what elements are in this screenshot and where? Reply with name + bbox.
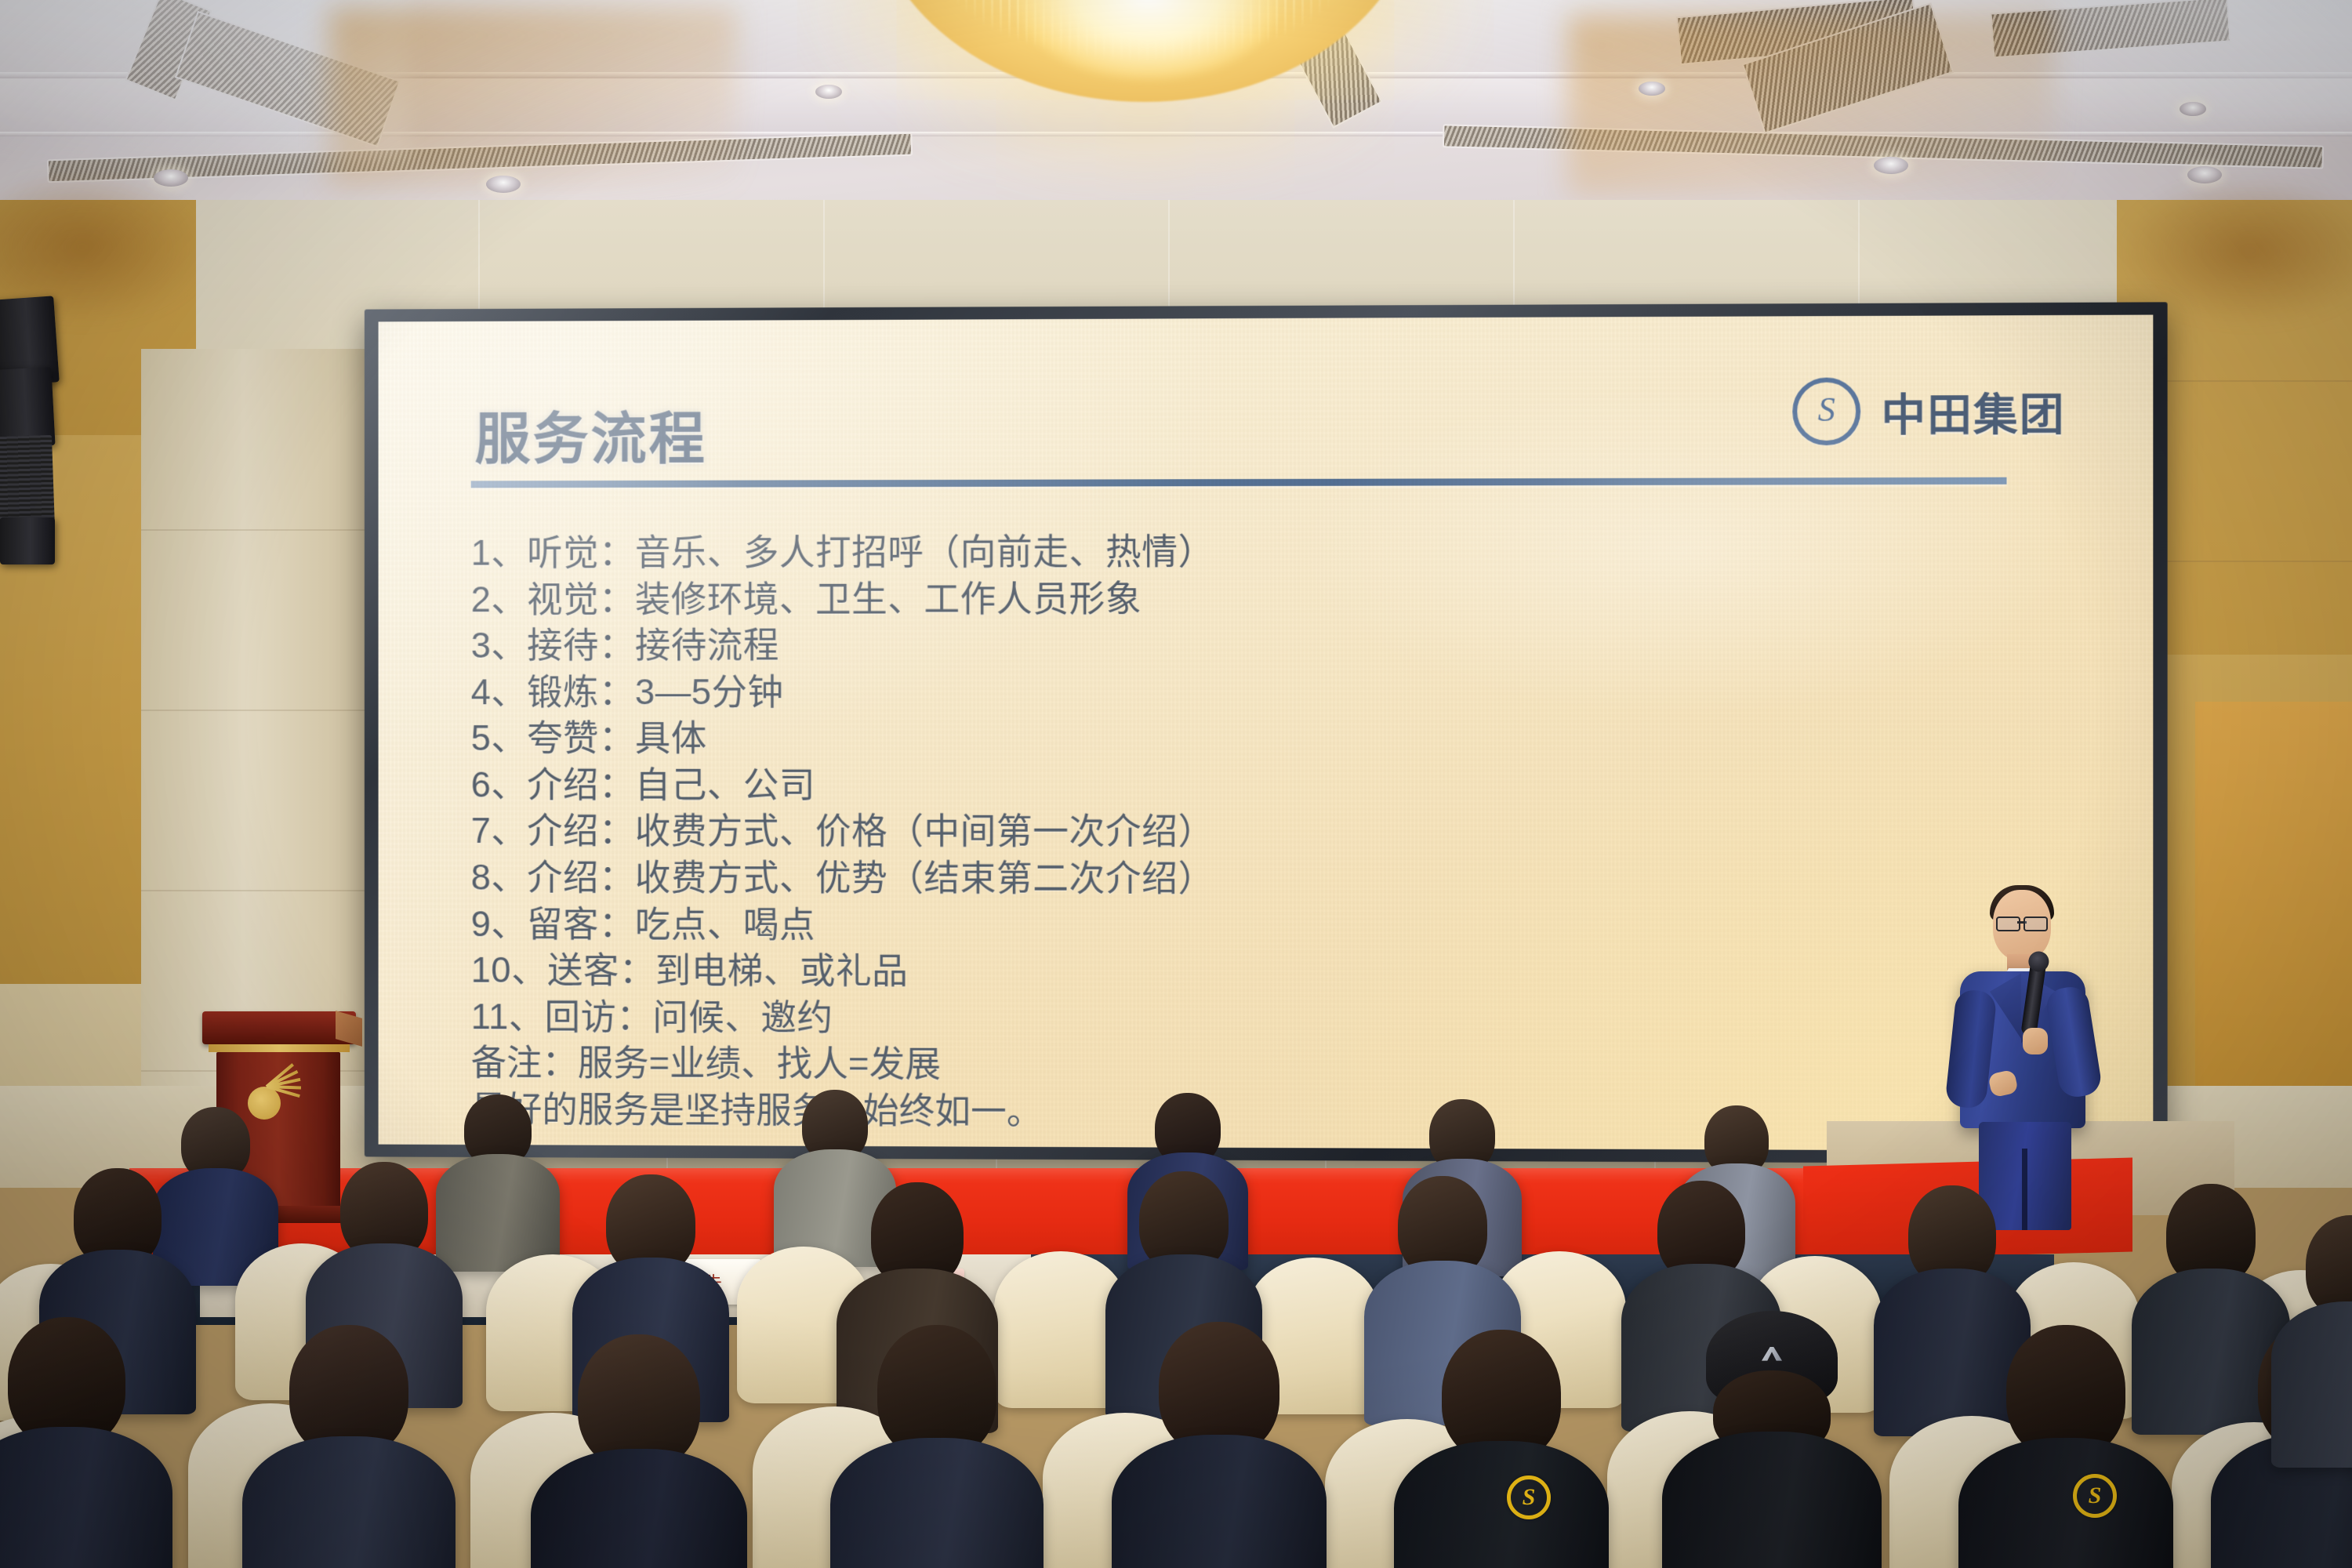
conference-room-photo: 服务流程 S 中田集团 1、听觉：音乐、多人打招呼（向前走、热情） 2、视觉：装… bbox=[0, 0, 2352, 1568]
slide-title: 服务流程 bbox=[475, 392, 707, 474]
recessed-downlight bbox=[1639, 82, 1665, 96]
recessed-downlight bbox=[486, 176, 521, 193]
wall-gold-inset bbox=[2195, 702, 2352, 1109]
recessed-downlight bbox=[815, 85, 842, 99]
seated-guest bbox=[439, 1094, 557, 1259]
audience-member-front bbox=[1129, 1322, 1309, 1568]
line-array-speaker bbox=[0, 517, 55, 564]
slide-line: 7、介绍：收费方式、价格（中间第一次介绍） bbox=[471, 808, 2106, 857]
slide-line: 3、接待：接待流程 bbox=[471, 621, 2106, 669]
audience-member-front bbox=[259, 1325, 439, 1568]
slide-line: 10、送客：到电梯、或礼品 bbox=[471, 947, 2106, 997]
audience-member-front bbox=[0, 1317, 157, 1568]
speaker-grill bbox=[0, 435, 55, 532]
audience-member-front: S bbox=[1976, 1325, 2156, 1568]
podium-top bbox=[202, 1011, 356, 1044]
slide-line: 4、锻炼：3—5分钟 bbox=[471, 668, 2106, 715]
company-name: 中田集团 bbox=[1881, 379, 2065, 443]
slide-line: 1、听觉：音乐、多人打招呼（向前走、热情） bbox=[471, 527, 2106, 576]
jacket-s-logo-icon: S bbox=[1507, 1475, 1551, 1519]
glasses-icon bbox=[1996, 916, 2048, 928]
slide-body: 1、听觉：音乐、多人打招呼（向前走、热情） 2、视觉：装修环境、卫生、工作人员形… bbox=[471, 527, 2106, 1138]
slide-line: 2、视觉：装修环境、卫生、工作人员形象 bbox=[471, 574, 2106, 622]
projection-screen: 服务流程 S 中田集团 1、听觉：音乐、多人打招呼（向前走、热情） 2、视觉：装… bbox=[379, 315, 2154, 1152]
audience-member-front bbox=[847, 1325, 1027, 1568]
jacket-s-logo-icon: S bbox=[2073, 1474, 2117, 1518]
audience-member-front bbox=[549, 1334, 729, 1568]
recessed-downlight bbox=[2180, 102, 2206, 116]
circle-s-logo-icon: S bbox=[1792, 377, 1860, 445]
audience-member-front: S bbox=[1411, 1330, 1592, 1568]
slide-line: 6、介绍：自己、公司 bbox=[471, 762, 2106, 810]
podium-gold-trim bbox=[209, 1044, 350, 1052]
brand-lockup: S 中田集团 bbox=[1792, 377, 2065, 446]
recessed-downlight bbox=[1874, 157, 1908, 174]
slide-line: 11、回访：问候、邀约 bbox=[471, 993, 2106, 1044]
slide-title-rule bbox=[471, 477, 2007, 488]
presenter-hand bbox=[2023, 1028, 2048, 1054]
audience-member-front bbox=[1678, 1316, 1866, 1568]
cap-logo-icon bbox=[1762, 1347, 1782, 1361]
slide-line: 9、留客：吃点、喝点 bbox=[471, 901, 2106, 950]
audience-member bbox=[2281, 1215, 2352, 1450]
slide-line: 8、介绍：收费方式、优势（结束第二次介绍） bbox=[471, 855, 2106, 903]
logo-letter: S bbox=[1818, 393, 1835, 427]
projection-screen-frame: 服务流程 S 中田集团 1、听觉：音乐、多人打招呼（向前走、热情） 2、视觉：装… bbox=[365, 302, 2168, 1163]
slide-note-line: 备注：服务=业绩、找人=发展 bbox=[471, 1040, 2106, 1091]
audience: S S bbox=[0, 1090, 2352, 1568]
slide-line: 5、夸赞：具体 bbox=[471, 715, 2106, 762]
